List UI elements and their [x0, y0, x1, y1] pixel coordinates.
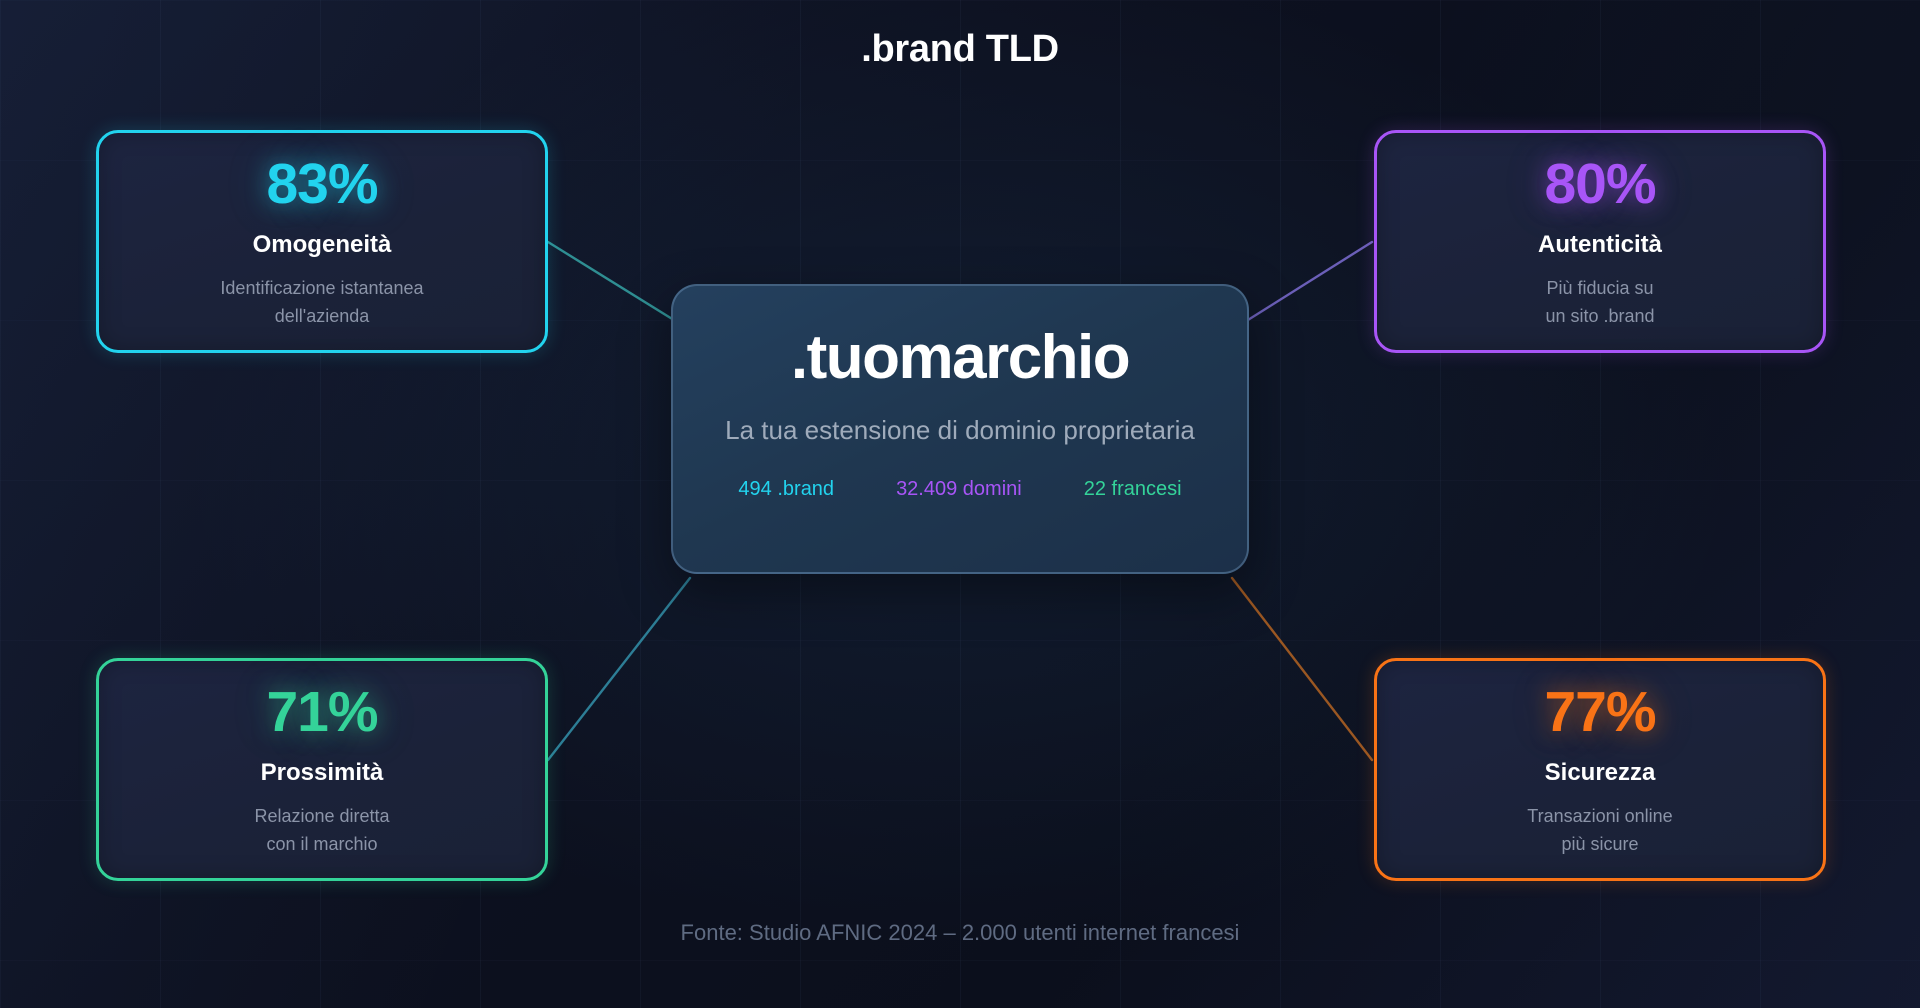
domain-stat-brand: 494 .brand [738, 478, 834, 501]
connector-bottom-left [548, 578, 690, 760]
stat-description-line2: un sito .brand [1545, 303, 1654, 331]
central-domain-card[interactable]: .tuomarchio La tua estensione di dominio… [671, 284, 1249, 574]
stat-description-line1: Transazioni online [1527, 803, 1672, 831]
stat-description-line2: con il marchio [254, 831, 389, 859]
stat-description: Più fiducia su un sito .brand [1545, 275, 1654, 331]
stat-card-autenticita[interactable]: 80% Autenticità Più fiducia su un sito .… [1374, 130, 1826, 353]
stat-description-line2: più sicure [1527, 831, 1672, 859]
stat-card-omogeneita[interactable]: 83% Omogeneità Identificazione istantane… [96, 130, 548, 353]
domain-subtitle: La tua estensione di dominio proprietari… [725, 415, 1195, 446]
domain-stat-french: 22 francesi [1084, 478, 1182, 501]
stat-label: Prossimità [261, 759, 384, 787]
stat-percent: 83% [266, 155, 377, 215]
stat-description-line1: Relazione diretta [254, 803, 389, 831]
domain-name: .tuomarchio [791, 322, 1129, 393]
stat-description-line1: Identificazione istantanea [220, 275, 423, 303]
stat-description-line1: Più fiducia su [1545, 275, 1654, 303]
connector-top-left [548, 242, 690, 330]
stat-percent: 71% [266, 683, 377, 743]
stat-card-prossimita[interactable]: 71% Prossimità Relazione diretta con il … [96, 658, 548, 881]
page-title: .brand TLD [0, 28, 1920, 71]
stat-description: Transazioni online più sicure [1527, 803, 1672, 859]
stat-percent: 80% [1544, 155, 1655, 215]
stat-description: Relazione diretta con il marchio [254, 803, 389, 859]
infographic-canvas: .brand TLD 83% Omogeneità Identificazion… [0, 0, 1920, 1008]
stat-card-sicurezza[interactable]: 77% Sicurezza Transazioni online più sic… [1374, 658, 1826, 881]
stat-label: Omogeneità [253, 231, 392, 259]
source-footnote: Fonte: Studio AFNIC 2024 – 2.000 utenti … [0, 920, 1920, 946]
domain-stats-row: 494 .brand 32.409 domini 22 francesi [738, 478, 1181, 501]
connector-bottom-right [1232, 578, 1372, 760]
stat-label: Sicurezza [1545, 759, 1656, 787]
connector-top-right [1232, 242, 1372, 330]
stat-percent: 77% [1544, 683, 1655, 743]
stat-description: Identificazione istantanea dell'azienda [220, 275, 423, 331]
stat-label: Autenticità [1538, 231, 1662, 259]
stat-description-line2: dell'azienda [220, 303, 423, 331]
domain-stat-domains: 32.409 domini [896, 478, 1022, 501]
